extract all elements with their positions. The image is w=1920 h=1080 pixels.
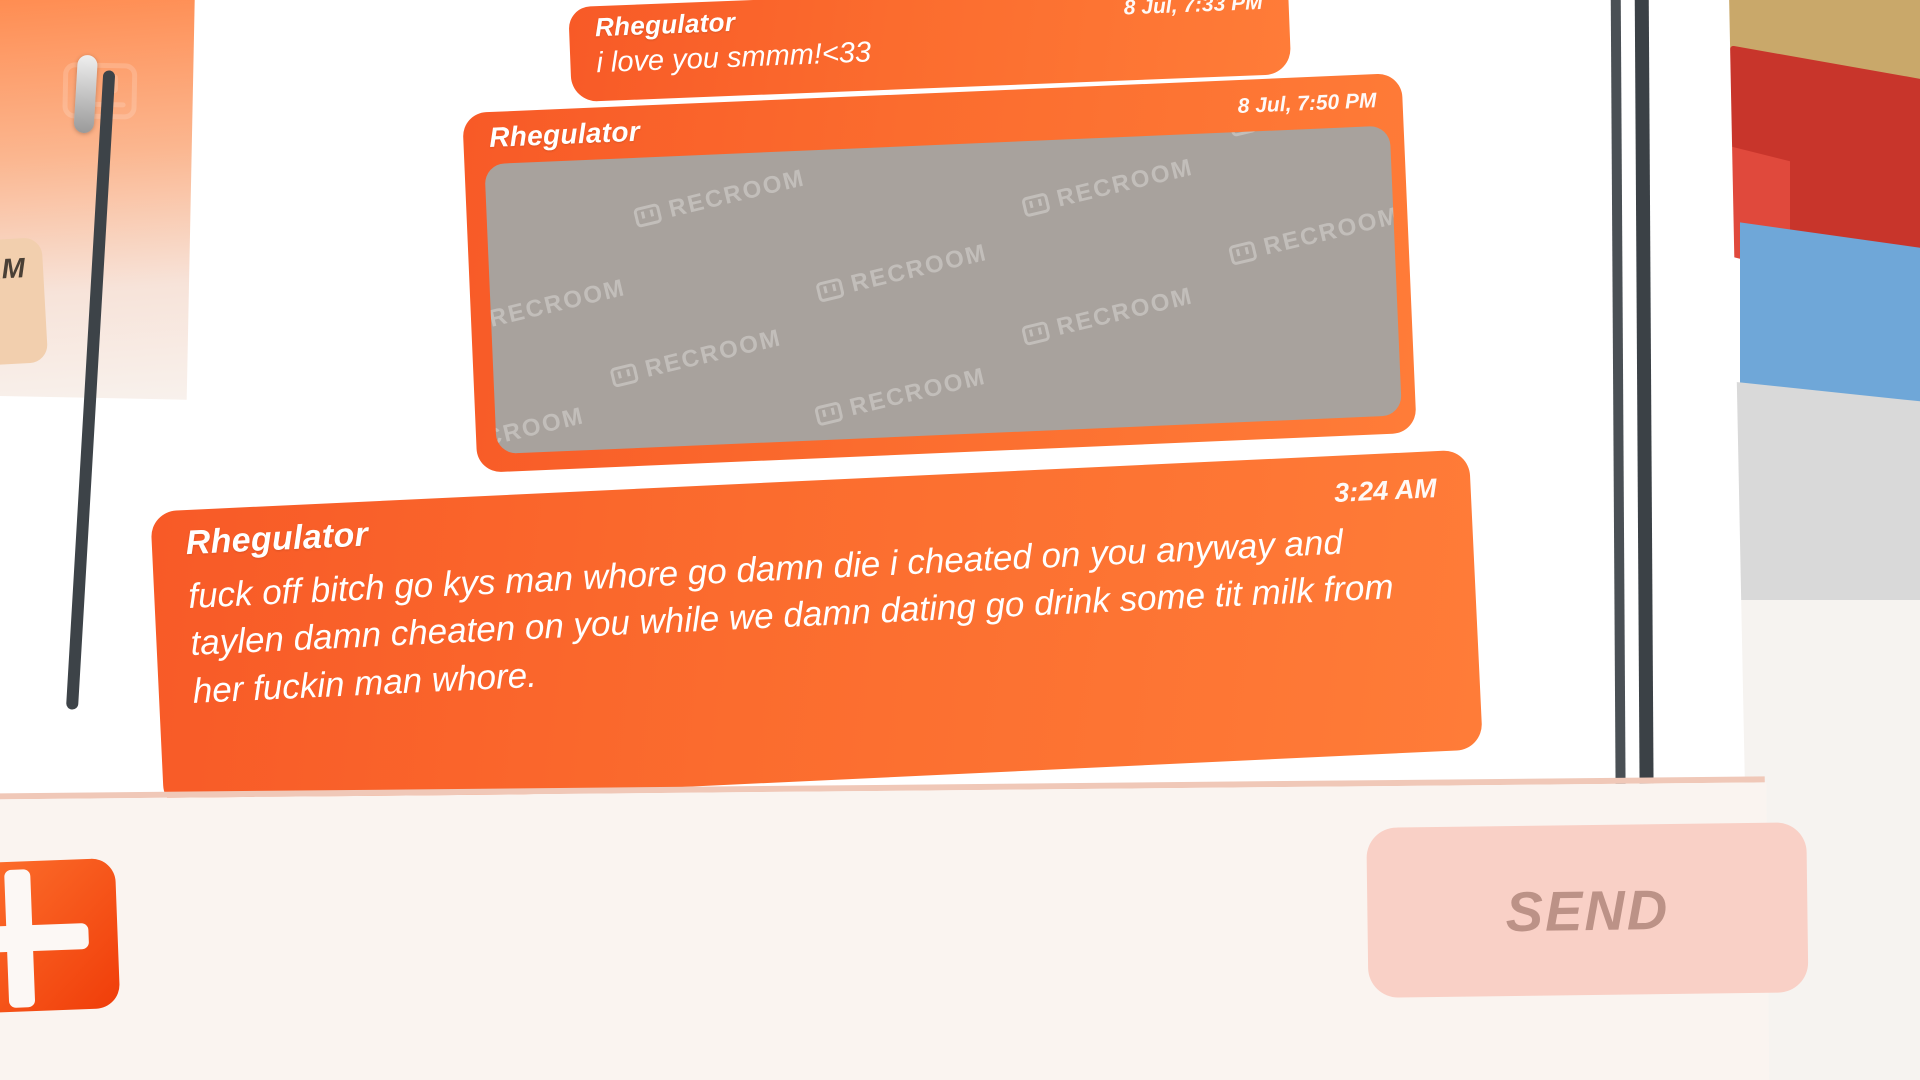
recroom-face-icon bbox=[62, 62, 137, 119]
recroom-badge-icon bbox=[1228, 126, 1258, 138]
recroom-badge-icon bbox=[1021, 321, 1051, 346]
screen-root: Club Chat 24 AM ... Rhegulator 8 Jul, 7:… bbox=[0, 0, 1920, 1080]
conversation-preview-card[interactable]: 24 AM ... bbox=[0, 237, 48, 374]
watermark-text: RECROOM bbox=[1261, 126, 1402, 133]
recroom-badge-icon bbox=[1021, 192, 1051, 217]
send-button-label: SEND bbox=[1505, 877, 1669, 944]
message-timestamp: 8 Jul, 7:50 PM bbox=[1237, 84, 1377, 119]
watermark-text: RECROOM bbox=[487, 274, 629, 334]
message-author: Rhegulator bbox=[489, 116, 641, 154]
chat-panel: Club Chat 24 AM ... Rhegulator 8 Jul, 7:… bbox=[0, 0, 1753, 1080]
watermark-text: RECROOM bbox=[1054, 154, 1196, 214]
plus-icon bbox=[4, 869, 35, 1008]
message-author: Rhegulator bbox=[594, 7, 735, 43]
watermark-text: RECROOM bbox=[641, 448, 783, 454]
recroom-badge-icon bbox=[633, 203, 663, 228]
image-watermark-layer: RECROOM RECROOM RECROOM RECROOM RECROOM … bbox=[484, 126, 1402, 454]
recroom-badge-icon bbox=[814, 401, 844, 426]
watermark-text: RECROOM bbox=[666, 164, 808, 224]
recroom-badge-icon bbox=[1228, 240, 1258, 265]
watermark-text: RECROOM bbox=[1054, 282, 1196, 342]
recroom-badge-icon bbox=[815, 277, 845, 302]
chat-message[interactable]: Rhegulator 8 Jul, 7:50 PM RECROOM RECROO… bbox=[462, 73, 1417, 473]
watermark-text: RECROOM bbox=[847, 363, 989, 423]
message-timestamp: 3:24 AM bbox=[1333, 465, 1437, 509]
preview-card-snippet: ... bbox=[0, 308, 29, 349]
chat-message[interactable]: Rhegulator 3:24 AM fuck off bitch go kys… bbox=[150, 450, 1483, 812]
send-button[interactable]: SEND bbox=[1366, 822, 1808, 998]
watermark-text: RECROOM bbox=[642, 324, 784, 384]
watermark-text: RECROOM bbox=[848, 239, 990, 299]
chat-panel-wrapper: Club Chat 24 AM ... Rhegulator 8 Jul, 7:… bbox=[0, 0, 1753, 1080]
add-attachment-button[interactable] bbox=[0, 858, 120, 1015]
message-image-attachment[interactable]: RECROOM RECROOM RECROOM RECROOM RECROOM … bbox=[484, 126, 1402, 454]
preview-card-time: 24 AM bbox=[0, 252, 26, 294]
watermark-text: RECROOM bbox=[1261, 202, 1402, 262]
watermark-text: RECROOM bbox=[484, 402, 587, 454]
recroom-badge-icon bbox=[609, 363, 639, 388]
